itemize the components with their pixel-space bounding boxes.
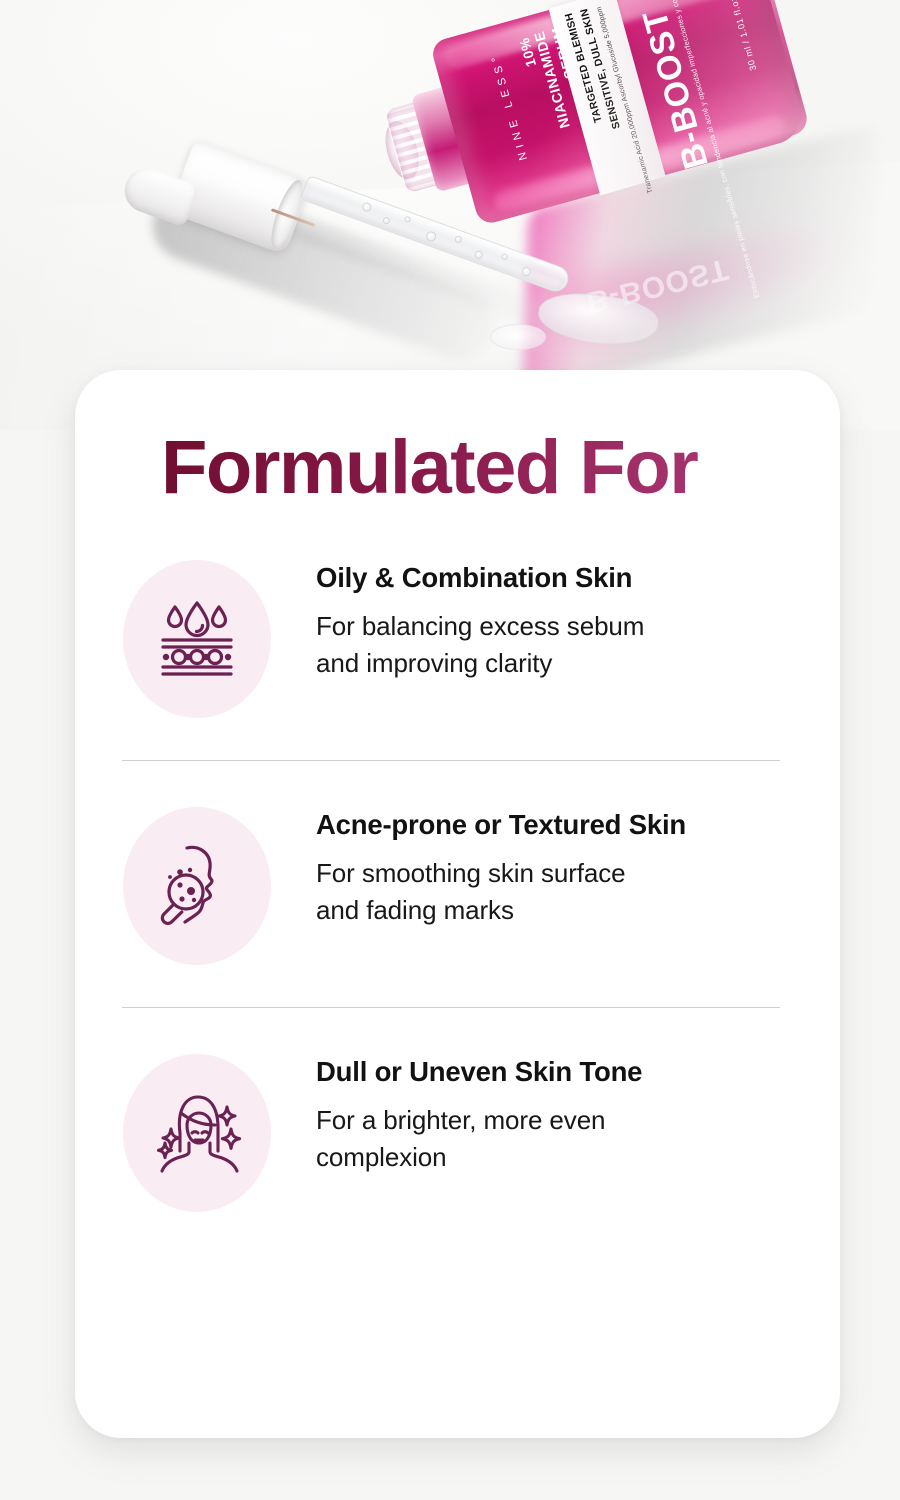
benefit-desc-line-1: For a brighter, more even bbox=[316, 1105, 605, 1135]
divider bbox=[122, 760, 780, 761]
list-item: Acne-prone or Textured Skin For smoothin… bbox=[75, 801, 840, 965]
benefit-desc-line-2: and fading marks bbox=[316, 895, 514, 925]
list-item: Oily & Combination Skin For balancing ex… bbox=[75, 554, 840, 718]
benefit-desc-line-1: For balancing excess sebum bbox=[316, 611, 644, 641]
page-title: Formulated For bbox=[161, 430, 840, 506]
benefit-title: Acne-prone or Textured Skin bbox=[316, 809, 686, 841]
benefit-desc-line-2: complexion bbox=[316, 1142, 447, 1172]
benefit-text: Acne-prone or Textured Skin For smoothin… bbox=[316, 801, 686, 928]
benefit-icon-badge bbox=[123, 807, 271, 965]
benefit-title: Dull or Uneven Skin Tone bbox=[316, 1056, 642, 1088]
benefit-icon-badge bbox=[123, 560, 271, 718]
benefit-icon-badge bbox=[123, 1054, 271, 1212]
oil-droplets-skin-layers-icon bbox=[147, 587, 247, 692]
glowing-woman-sparkles-icon bbox=[147, 1081, 247, 1186]
benefit-desc-line-1: For smoothing skin surface bbox=[316, 858, 626, 888]
magnifier-acne-face-profile-icon bbox=[147, 834, 247, 939]
divider bbox=[122, 1007, 780, 1008]
benefit-desc-line-2: and improving clarity bbox=[316, 648, 552, 678]
serum-droplet bbox=[490, 324, 546, 350]
list-item: Dull or Uneven Skin Tone For a brighter,… bbox=[75, 1048, 840, 1212]
formulated-for-card: Formulated For bbox=[75, 370, 840, 1438]
benefit-text: Dull or Uneven Skin Tone For a brighter,… bbox=[316, 1048, 642, 1175]
benefit-description: For a brighter, more even complexion bbox=[316, 1102, 642, 1176]
benefit-list: Oily & Combination Skin For balancing ex… bbox=[75, 554, 840, 1212]
benefit-description: For balancing excess sebum and improving… bbox=[316, 608, 644, 682]
product-photo: B-BOOST NINE LESS° 10% NIACINAMIDE bbox=[0, 0, 900, 430]
benefit-text: Oily & Combination Skin For balancing ex… bbox=[316, 554, 644, 681]
benefit-title: Oily & Combination Skin bbox=[316, 562, 644, 594]
benefit-description: For smoothing skin surface and fading ma… bbox=[316, 855, 686, 929]
